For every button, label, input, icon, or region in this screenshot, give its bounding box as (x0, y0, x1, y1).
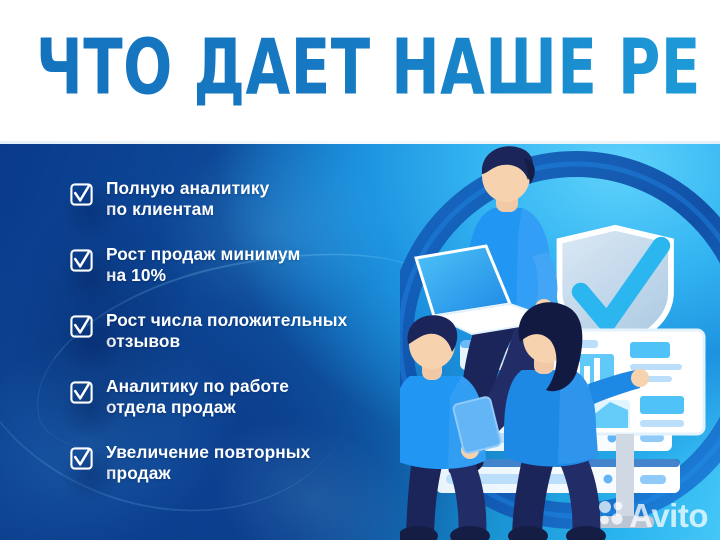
checkbox-checked-icon (70, 447, 93, 470)
list-item-label: Рост продаж минимум на 10% (106, 244, 300, 285)
checkbox-checked-icon (70, 315, 93, 338)
header-band: ЧТО ДАЕТ НАШЕ РЕШЕНИЕ (0, 0, 720, 144)
checkbox-checked-icon (70, 249, 93, 272)
avito-dots-logo (598, 500, 624, 531)
data-analytics-team-illustration (400, 144, 720, 540)
checkbox-checked-icon (70, 183, 93, 206)
list-item: Рост продаж минимум на 10% (70, 244, 430, 310)
list-item: Рост числа положительных отзывов (70, 310, 430, 376)
promo-banner: ЧТО ДАЕТ НАШЕ РЕШЕНИЕ Полную аналитику п… (0, 0, 720, 540)
benefits-list: Полную аналитику по клиентам Рост продаж… (70, 178, 430, 508)
list-item: Полную аналитику по клиентам (70, 178, 430, 244)
list-item-label: Полную аналитику по клиентам (106, 178, 269, 219)
list-item-label: Увеличение повторных продаж (106, 442, 310, 483)
page-title: ЧТО ДАЕТ НАШЕ РЕШЕНИЕ (36, 23, 699, 113)
avito-watermark: Avito (598, 499, 708, 532)
list-item: Увеличение повторных продаж (70, 442, 430, 508)
list-item-label: Рост числа положительных отзывов (106, 310, 347, 351)
main-panel: Полную аналитику по клиентам Рост продаж… (0, 144, 720, 540)
list-item-label: Аналитику по работе отдела продаж (106, 376, 289, 417)
checkbox-checked-icon (70, 381, 93, 404)
list-item: Аналитику по работе отдела продаж (70, 376, 430, 442)
avito-wordmark: Avito (629, 499, 708, 532)
